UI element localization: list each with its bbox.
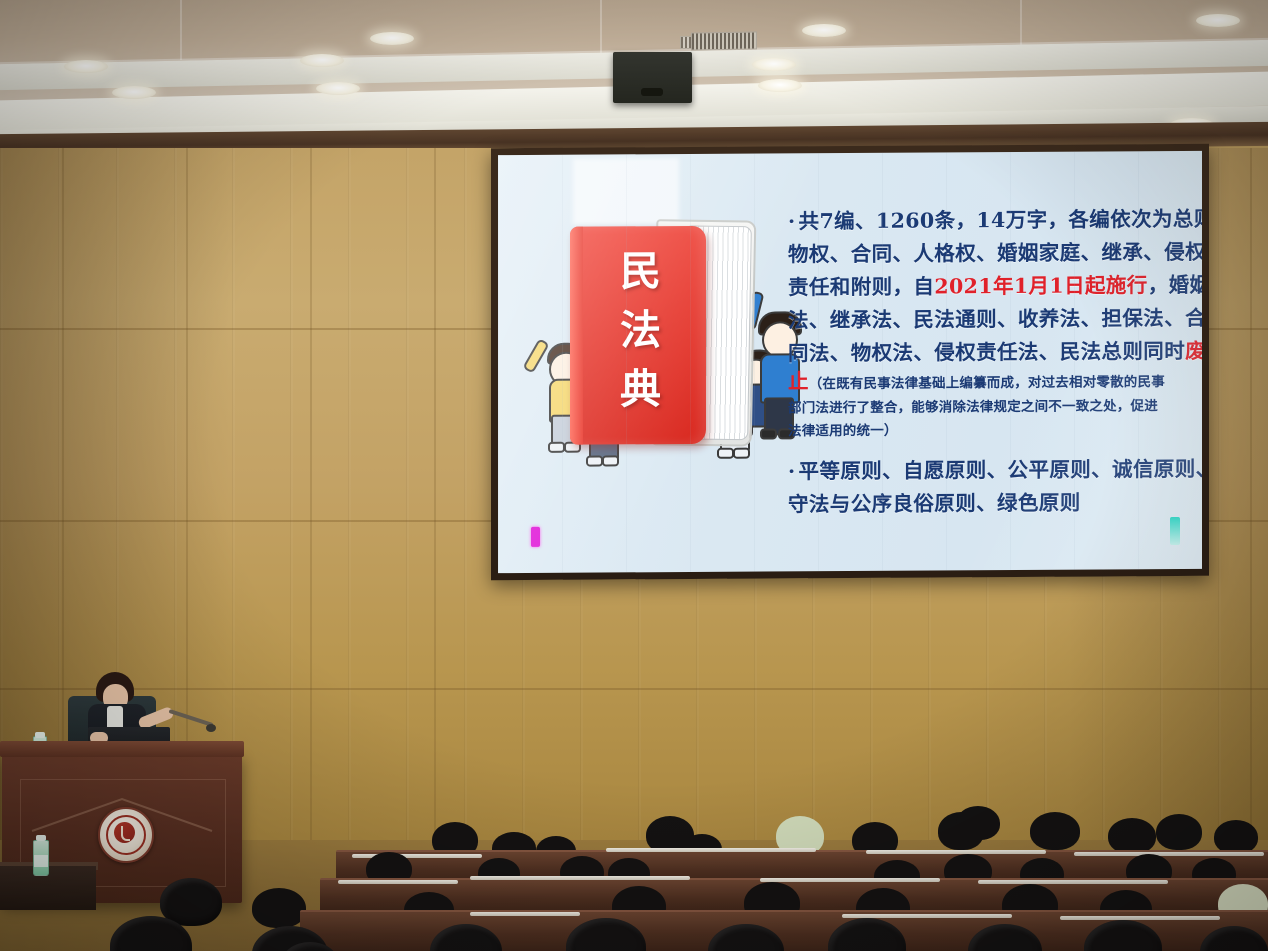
bullet-1-line-2: 物权、合同、人格权、婚姻家庭、继承、侵权 [788,236,1183,271]
book-spine [570,227,583,445]
audience-head [956,806,1000,840]
downlight-icon [316,82,360,95]
slide-text-block: ·共7编、1260条，14万字，各编依次为总则、 物权、合同、人格权、婚姻家庭、… [788,203,1183,521]
podium-top-surface [0,741,244,757]
book-title-char: 典 [598,360,684,420]
audience-head [252,888,306,928]
bullet-1-line-5: 同法、物权法、侵权责任法、民法总则同时废 [788,335,1183,370]
parenthetical-text: （在既有民事法律基础上编纂而成，对过去相对零散的民事 [809,374,1165,392]
bullet-2-line-2: 守法与公序良俗原则、绿色原则 [788,485,1183,520]
audience-head [1156,814,1202,850]
downlight-icon [64,60,108,73]
audience-head [1030,812,1080,850]
microphone-head-icon [206,724,216,732]
bullet-text: 共7编、1260条，14万字，各编依次为总则、 [799,207,1202,234]
bullet-text: 同法、物权法、侵权责任法、民法总则同时 [788,339,1185,365]
audience-head [1108,818,1156,854]
bullet-text: 责任和附则，自 [788,274,934,299]
parenthetical-line-2: 部门法进行了整合，能够消除法律规定之间不一致之处，促进 [788,394,1183,420]
audience-area [0,800,1268,951]
bullet-marker: · [788,459,796,483]
bullet-text-highlight: 废 [1185,339,1202,363]
bullet-1-line-1: ·共7编、1260条，14万字，各编依次为总则、 [788,203,1183,238]
projector-lens-icon [641,88,663,96]
bullet-2-line-1: ·平等原则、自愿原则、公平原则、诚信原则、 [788,452,1183,487]
parenthetical-text: 法律适用的统一） [788,423,898,440]
ceiling-projector [613,52,692,103]
bullet-marker: · [788,209,796,233]
bottle-cap [35,732,45,738]
downlight-icon [112,86,156,99]
projector-hotspot [573,158,679,225]
bullet-text: 法、继承法、民法通则、收养法、担保法、合 [788,306,1202,333]
ceiling [0,0,1268,136]
downlight-icon [802,24,846,37]
bullet-1-line-3: 责任和附则，自2021年1月1日起施行，婚姻 [788,269,1183,304]
audience-head [1214,820,1258,854]
bullet-text: 物权、合同、人格权、婚姻家庭、继承、侵权 [788,240,1202,267]
projection-screen: 民 法 典 ·共7编、1260条，14万字，各编依次为总则、 物权、合同、人格权… [498,151,1202,573]
book-title-char: 法 [598,301,684,361]
downlight-icon [1196,14,1240,27]
bullet-1-line-4: 法、继承法、民法通则、收养法、担保法、合 [788,302,1183,337]
parenthetical-line-1: 止（在既有民事法律基础上编纂而成，对过去相对零散的民事 [788,368,1183,397]
book-title-char: 民 [598,242,684,302]
downlight-icon [758,79,802,92]
book-title: 民 法 典 [598,242,684,420]
lecture-hall-scene: 民 法 典 ·共7编、1260条，14万字，各编依次为总则、 物权、合同、人格权… [0,0,1268,951]
downlight-icon [300,54,344,67]
screen-marker-magenta [531,527,540,547]
downlight-icon [752,58,796,71]
civil-code-illustration: 民 法 典 [536,215,796,485]
downlight-icon [370,32,414,45]
ceiling-grid-line [600,0,602,54]
parenthetical-lead-highlight: 止 [788,369,809,393]
bullet-text: 平等原则、自愿原则、公平原则、诚信原则、 [799,456,1202,483]
projection-screen-frame: 民 法 典 ·共7编、1260条，14万字，各编依次为总则、 物权、合同、人格权… [491,144,1209,580]
bullet-text-highlight: 2021年1月1日起施行 [934,273,1147,298]
bullet-text: 守法与公序良俗原则、绿色原则 [788,490,1081,516]
screen-marker-cyan [1170,517,1180,545]
ceiling-vent-icon [691,31,757,50]
parenthetical-text: 部门法进行了整合，能够消除法律规定之间不一致之处，促进 [788,398,1158,416]
parenthetical-line-3: 法律适用的统一） [788,418,1183,444]
ceiling-grid-line [180,0,182,60]
bullet-text: ，婚姻 [1148,273,1202,297]
